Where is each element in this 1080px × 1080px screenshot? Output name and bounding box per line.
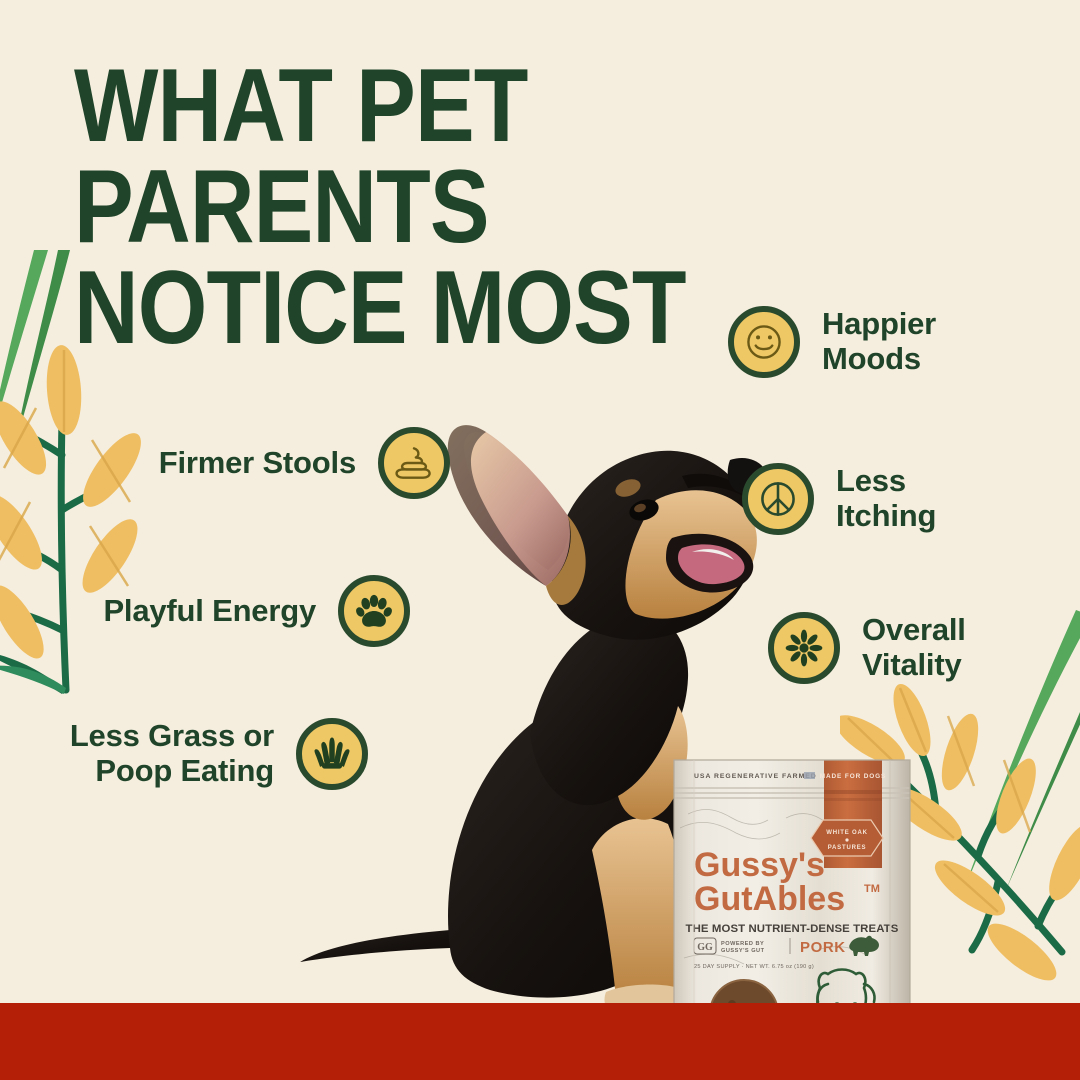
package-tagline: THE MOST NUTRIENT-DENSE TREATS <box>686 923 899 935</box>
benefit-firmer-stools[interactable]: Firmer Stools <box>0 427 450 499</box>
page-title: WHAT PET PARENTS NOTICE MOST <box>74 56 762 359</box>
smiley-icon <box>728 306 800 378</box>
package-trademark: TM <box>864 883 880 895</box>
package-powered-line1: POWERED BY <box>721 941 764 947</box>
benefit-less-itching[interactable]: Less Itching <box>742 463 936 535</box>
paw-icon <box>338 575 410 647</box>
benefit-playful-energy[interactable]: Playful Energy <box>0 575 410 647</box>
package-powered-line2: GUSSY'S GUT <box>721 948 765 954</box>
peace-icon <box>742 463 814 535</box>
benefit-label: Less Itching <box>836 464 936 533</box>
package-made-for-dogs: MADE FOR DOGS <box>820 773 886 780</box>
bottom-accent-bar <box>0 1003 1080 1080</box>
package-seal-line2: PASTURES <box>828 845 867 851</box>
benefit-happier-moods[interactable]: Happier Moods <box>728 306 936 378</box>
benefit-label: Overall Vitality <box>862 613 966 682</box>
product-package: MADE FOR DOGS WHITE OAK PASTURES USA REG… <box>668 752 916 1042</box>
package-seal-line1: WHITE OAK <box>826 830 868 836</box>
package-powered-mark: GG <box>697 942 713 953</box>
benefit-grass-eating[interactable]: Less Grass or Poop Eating <box>0 718 368 790</box>
flower-icon <box>768 612 840 684</box>
package-brand-line2: GutAbles <box>694 880 845 918</box>
package-brand-line1: Gussy's <box>694 846 825 884</box>
benefit-label: Less Grass or Poop Eating <box>70 719 274 788</box>
benefit-label: Firmer Stools <box>159 446 356 481</box>
benefit-label: Happier Moods <box>822 307 936 376</box>
poop-icon <box>378 427 450 499</box>
package-usa-line: USA REGENERATIVE FARMED <box>694 773 817 780</box>
package-flavor: PORK <box>800 939 846 956</box>
benefit-label: Playful Energy <box>103 594 316 629</box>
grass-icon <box>296 718 368 790</box>
promo-graphic: Firmer Stools Playful Energy Less Grass … <box>0 0 1080 1080</box>
package-fine-print: 25 DAY SUPPLY · NET WT. 6.75 oz (190 g) <box>694 964 814 970</box>
benefit-overall-vitality[interactable]: Overall Vitality <box>768 612 966 684</box>
